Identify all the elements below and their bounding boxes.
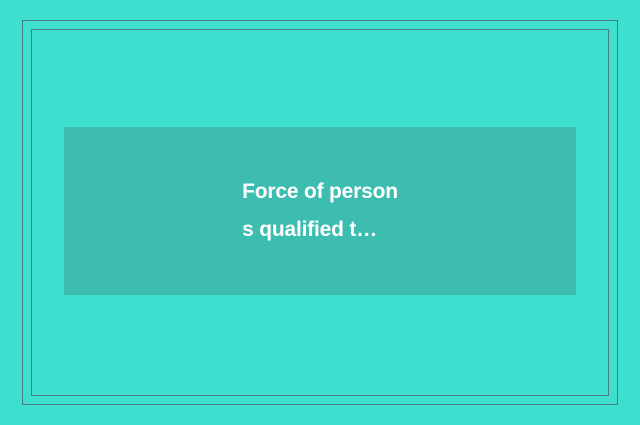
card-title-text: Force of person s qualified t… (242, 173, 398, 249)
placeholder-canvas: Force of person s qualified t… (0, 0, 640, 425)
content-card: Force of person s qualified t… (64, 127, 576, 295)
